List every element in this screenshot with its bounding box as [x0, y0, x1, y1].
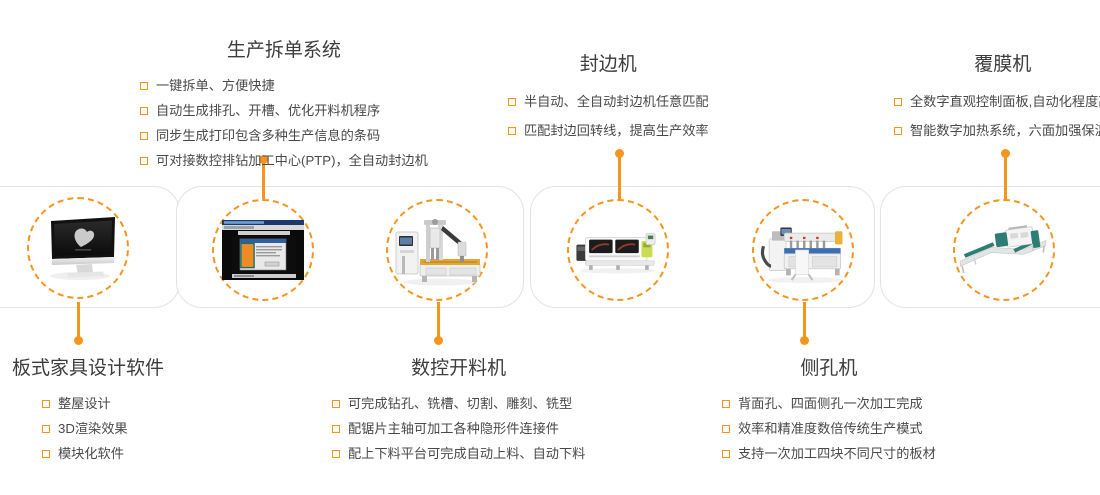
cnc-cutting-bullets: 可完成钻孔、铣槽、切割、雕刻、铣型 配锯片主轴可加工各种隐形件连接件 配上下料平… [332, 391, 585, 466]
laminating-title: 覆膜机 [894, 52, 1100, 78]
text-block-production-split: 生产拆单系统 一键拆单、方便快捷 自动生成排孔、开槽、优化开料机程序 同步生成打… [140, 38, 428, 173]
checkbox-icon [508, 98, 516, 106]
checkbox-icon [42, 425, 50, 433]
node-software-screen[interactable] [212, 199, 314, 301]
checkbox-icon [42, 450, 50, 458]
edge-banding-bullets: 半自动、全自动封边机任意匹配 匹配封边回转线，提高生产效率 [508, 87, 709, 145]
node-cnc-router[interactable] [386, 199, 488, 301]
connector-dot-down-1 [74, 336, 83, 345]
text-block-side-drilling: 侧孔机 背面孔、四面侧孔一次加工完成 效率和精准度数倍传统生产模式 支持一次加工… [722, 356, 936, 466]
checkbox-icon [332, 400, 340, 408]
side-drilling-machine-icon [756, 211, 850, 289]
connector-down-5 [803, 302, 806, 340]
list-item: 配锯片主轴可加工各种隐形件连接件 [332, 416, 585, 441]
edge-banding-machine-icon [571, 211, 665, 289]
edge-banding-title: 封边机 [508, 52, 709, 78]
list-item: 自动生成排孔、开槽、优化开料机程序 [140, 98, 428, 123]
checkbox-icon [140, 132, 148, 140]
list-item: 同步生成打印包含多种生产信息的条码 [140, 123, 428, 148]
node-edge-bander[interactable] [567, 199, 669, 301]
checkbox-icon [42, 400, 50, 408]
imac-computer-icon [31, 209, 125, 287]
checkbox-icon [332, 450, 340, 458]
checkbox-icon [140, 157, 148, 165]
laminating-machine-icon [957, 211, 1051, 289]
connector-dot-down-5 [800, 336, 809, 345]
production-split-title: 生产拆单系统 [140, 38, 428, 64]
list-item: 智能数字加热系统，六面加强保温 [894, 116, 1100, 145]
node-imac-monitor[interactable] [27, 197, 129, 299]
connector-up-4 [618, 152, 621, 200]
text-block-laminating: 覆膜机 全数字直观控制面板,自动化程度高 智能数字加热系统，六面加强保温 [894, 52, 1100, 145]
list-item: 整屋设计 [42, 391, 164, 416]
checkbox-icon [894, 98, 902, 106]
checkbox-icon [140, 107, 148, 115]
checkbox-icon [332, 425, 340, 433]
connector-down-3 [437, 302, 440, 340]
connector-dot-up-4 [615, 149, 624, 158]
side-drilling-title: 侧孔机 [722, 356, 936, 382]
checkbox-icon [894, 127, 902, 135]
list-item: 效率和精准度数倍传统生产模式 [722, 416, 936, 441]
connector-dot-up-6 [1001, 149, 1010, 158]
list-item: 配上下料平台可完成自动上料、自动下料 [332, 441, 585, 466]
process-flow-diagram: 生产拆单系统 一键拆单、方便快捷 自动生成排孔、开槽、优化开料机程序 同步生成打… [0, 0, 1100, 495]
list-item: 可对接数控排钻加工中心(PTP)，全自动封边机 [140, 148, 428, 173]
checkbox-icon [722, 450, 730, 458]
list-item: 一键拆单、方便快捷 [140, 73, 428, 98]
list-item: 匹配封边回转线，提高生产效率 [508, 116, 709, 145]
list-item: 可完成钻孔、铣槽、切割、雕刻、铣型 [332, 391, 585, 416]
connector-dot-down-3 [434, 336, 443, 345]
list-item: 半自动、全自动封边机任意匹配 [508, 87, 709, 116]
checkbox-icon [722, 425, 730, 433]
laminating-bullets: 全数字直观控制面板,自动化程度高 智能数字加热系统，六面加强保温 [894, 87, 1100, 145]
cnc-cutting-title: 数控开料机 [332, 356, 585, 382]
list-item: 支持一次加工四块不同尺寸的板材 [722, 441, 936, 466]
node-side-hole-drill[interactable] [752, 199, 854, 301]
list-item: 模块化软件 [42, 441, 164, 466]
list-item: 3D渲染效果 [42, 416, 164, 441]
text-block-cnc-cutting: 数控开料机 可完成钻孔、铣槽、切割、雕刻、铣型 配锯片主轴可加工各种隐形件连接件… [332, 356, 585, 466]
checkbox-icon [722, 400, 730, 408]
connector-up-6 [1004, 152, 1007, 200]
connector-down-1 [77, 302, 80, 340]
design-software-title: 板式家具设计软件 [12, 356, 164, 382]
node-laminating-press[interactable] [953, 199, 1055, 301]
list-item: 背面孔、四面侧孔一次加工完成 [722, 391, 936, 416]
list-item: 全数字直观控制面板,自动化程度高 [894, 87, 1100, 116]
design-software-bullets: 整屋设计 3D渲染效果 模块化软件 [12, 391, 164, 466]
text-block-edge-banding: 封边机 半自动、全自动封边机任意匹配 匹配封边回转线，提高生产效率 [508, 52, 709, 145]
text-block-design-software: 板式家具设计软件 整屋设计 3D渲染效果 模块化软件 [12, 356, 164, 466]
checkbox-icon [140, 82, 148, 90]
production-split-bullets: 一键拆单、方便快捷 自动生成排孔、开槽、优化开料机程序 同步生成打印包含多种生产… [140, 73, 428, 173]
side-drilling-bullets: 背面孔、四面侧孔一次加工完成 效率和精准度数倍传统生产模式 支持一次加工四块不同… [722, 391, 936, 466]
cnc-router-machine-icon [390, 211, 484, 289]
cad-software-screen-icon [216, 211, 310, 289]
checkbox-icon [508, 127, 516, 135]
